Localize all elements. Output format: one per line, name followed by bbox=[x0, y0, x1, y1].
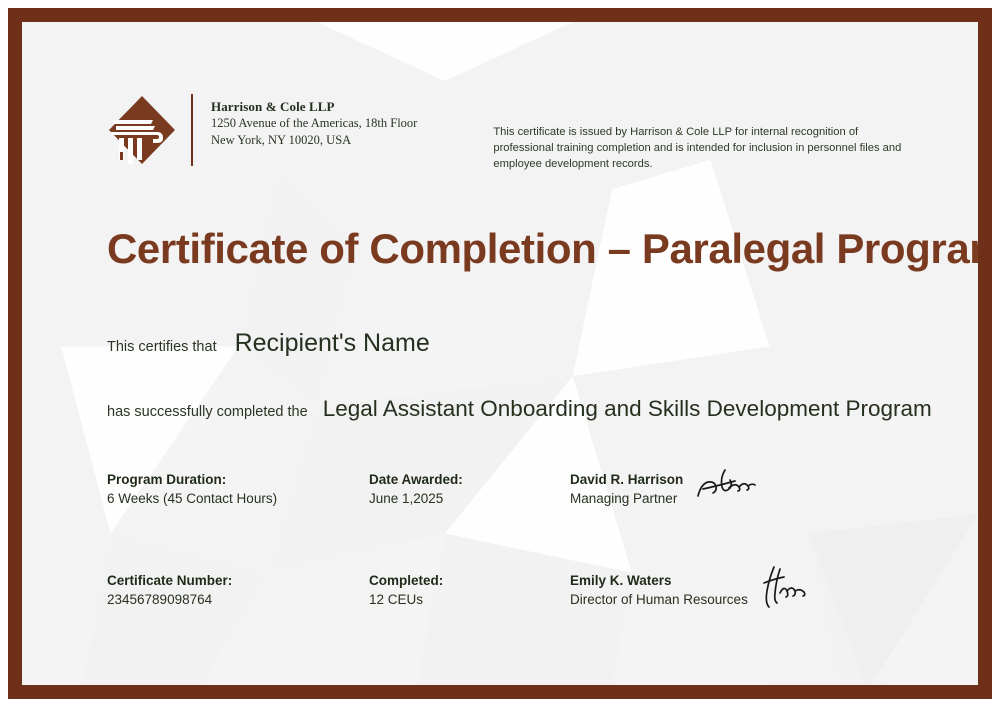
firm-address-line-2: New York, NY 10020, USA bbox=[211, 132, 417, 149]
signer-title-2: Director of Human Resources bbox=[570, 590, 748, 609]
firm-details: Harrison & Cole LLP 1250 Avenue of the A… bbox=[211, 94, 417, 166]
recipient-lead-in-label: This certifies that bbox=[107, 339, 217, 355]
handwritten-signature-icon bbox=[695, 462, 757, 504]
recipient-line: This certifies that Recipient's Name bbox=[107, 329, 430, 358]
firm-name: Harrison & Cole LLP bbox=[211, 98, 417, 115]
date-awarded-value: June 1,2025 bbox=[369, 489, 463, 508]
signer-names-2: Emily K. Waters Director of Human Resour… bbox=[570, 571, 748, 609]
program-duration-label: Program Duration: bbox=[107, 470, 277, 489]
date-awarded-label: Date Awarded: bbox=[369, 470, 463, 489]
certificate-header: Harrison & Cole LLP 1250 Avenue of the A… bbox=[107, 94, 914, 172]
signer-name-2: Emily K. Waters bbox=[570, 571, 748, 590]
certificate-details: Program Duration: 6 Weeks (45 Contact Ho… bbox=[107, 470, 918, 672]
program-duration-field: Program Duration: 6 Weeks (45 Contact Ho… bbox=[107, 470, 277, 508]
vertical-divider-icon bbox=[191, 94, 193, 166]
certificate-page: Harrison & Cole LLP 1250 Avenue of the A… bbox=[22, 22, 978, 685]
detail-row-2: Certificate Number: 23456789098764 Compl… bbox=[107, 571, 918, 672]
recipient-name-value: Recipient's Name bbox=[235, 329, 430, 358]
handwritten-signature-icon bbox=[760, 563, 810, 611]
issuance-note: This certificate is issued by Harrison &… bbox=[493, 94, 914, 172]
completed-label: Completed: bbox=[369, 571, 443, 590]
firm-address-line-1: 1250 Avenue of the Americas, 18th Floor bbox=[211, 115, 417, 132]
certificate-number-field: Certificate Number: 23456789098764 bbox=[107, 571, 232, 609]
signature-block-hr-director: Emily K. Waters Director of Human Resour… bbox=[570, 571, 810, 611]
certificate-number-value: 23456789098764 bbox=[107, 590, 232, 609]
certificate-document: Harrison & Cole LLP 1250 Avenue of the A… bbox=[0, 0, 1000, 707]
detail-row-1: Program Duration: 6 Weeks (45 Contact Ho… bbox=[107, 470, 918, 571]
signer-names-1: David R. Harrison Managing Partner bbox=[570, 470, 683, 508]
date-awarded-field: Date Awarded: June 1,2025 bbox=[369, 470, 463, 508]
completed-field: Completed: 12 CEUs bbox=[369, 571, 443, 609]
certificate-border-frame: Harrison & Cole LLP 1250 Avenue of the A… bbox=[8, 8, 992, 699]
signer-name-1: David R. Harrison bbox=[570, 470, 683, 489]
program-name-value: Legal Assistant Onboarding and Skills De… bbox=[323, 396, 932, 422]
completed-value: 12 CEUs bbox=[369, 590, 443, 609]
firm-brand-block: Harrison & Cole LLP 1250 Avenue of the A… bbox=[107, 94, 417, 166]
program-lead-in-label: has successfully completed the bbox=[107, 404, 308, 420]
signature-block-managing-partner: David R. Harrison Managing Partner bbox=[570, 470, 757, 508]
program-duration-value: 6 Weeks (45 Contact Hours) bbox=[107, 489, 277, 508]
page-title: Certificate of Completion – Paralegal Pr… bbox=[107, 225, 992, 273]
certificate-number-label: Certificate Number: bbox=[107, 571, 232, 590]
program-line: has successfully completed the Legal Ass… bbox=[107, 396, 932, 422]
signer-title-1: Managing Partner bbox=[570, 489, 683, 508]
law-pillar-diamond-logo-icon bbox=[107, 94, 177, 166]
